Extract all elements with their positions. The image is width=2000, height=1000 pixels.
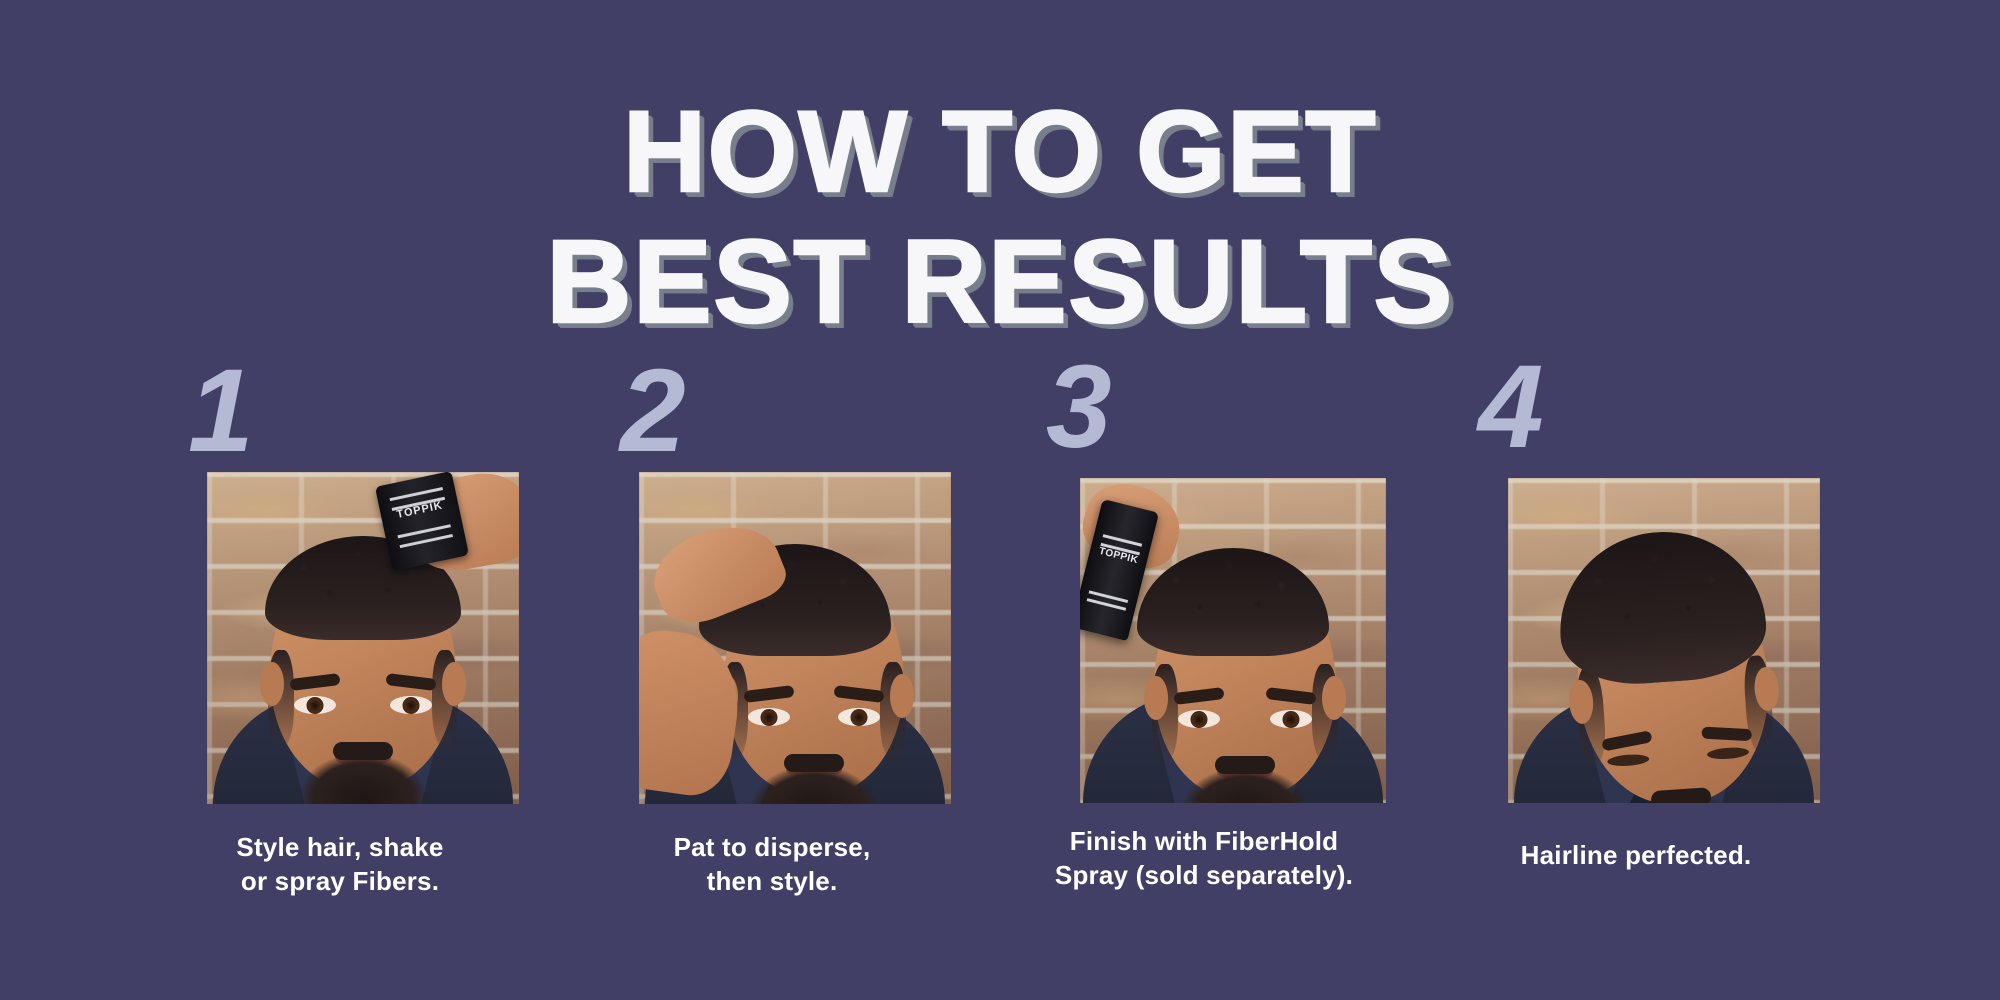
step-number-3: 3: [1046, 348, 1110, 466]
eyebrow-left: [743, 685, 794, 703]
beard: [275, 716, 451, 804]
eyebrow-left: [1174, 687, 1225, 705]
headline-line-2: BEST RESULTS: [0, 225, 2000, 341]
person-figure: [1508, 478, 1820, 803]
eye-left: [1178, 710, 1220, 728]
iris-right: [850, 709, 867, 726]
eyebrow-right: [1702, 727, 1753, 742]
eyebrow-right: [1266, 687, 1317, 705]
ear-right: [1322, 676, 1346, 720]
beard: [726, 728, 902, 804]
eyebrow-left: [289, 673, 340, 691]
beard: [1157, 730, 1333, 803]
step-photo-2: [639, 472, 951, 804]
step-photo-4: [1508, 478, 1820, 803]
hair: [1137, 548, 1329, 656]
eye-right: [390, 696, 432, 714]
caption-line-2: Spray (sold separately).: [1000, 858, 1408, 892]
headline-line-1: HOW TO GET: [0, 96, 2000, 209]
eye-left: [748, 708, 790, 726]
steps-row: 1: [0, 440, 2000, 960]
iris-left: [760, 709, 777, 726]
step-number-4: 4: [1478, 348, 1542, 466]
caption-line-1: Style hair, shake: [160, 830, 520, 864]
caption-line-1: Hairline perfected.: [1456, 838, 1816, 872]
step-caption-3: Finish with FiberHold Spray (sold separa…: [1000, 824, 1408, 893]
iris-left: [1191, 711, 1208, 728]
eye-left: [294, 696, 336, 714]
ear-left: [1144, 676, 1168, 720]
page-title: HOW TO GET BEST RESULTS: [0, 96, 2000, 340]
ear-right: [890, 674, 914, 718]
caption-line-2: or spray Fibers.: [160, 864, 520, 898]
step-caption-4: Hairline perfected.: [1456, 838, 1816, 872]
step-number-1: 1: [188, 352, 252, 470]
eye-right: [1270, 710, 1312, 728]
eyebrow-right: [385, 673, 436, 691]
eyebrow-left: [1601, 730, 1652, 751]
step-number-2: 2: [620, 352, 684, 470]
product-label: TOPPIK: [1089, 544, 1148, 569]
step-caption-1: Style hair, shake or spray Fibers.: [160, 830, 520, 899]
iris-right: [1283, 711, 1300, 728]
iris-left: [307, 697, 324, 714]
step-photo-3: TOPPIK: [1080, 478, 1386, 803]
eye-right: [838, 708, 880, 726]
eyebrow-right: [833, 685, 884, 703]
caption-line-1: Finish with FiberHold: [1000, 824, 1408, 858]
hair: [1554, 525, 1770, 689]
caption-line-1: Pat to disperse,: [592, 830, 952, 864]
head-tilted-down: [1508, 478, 1820, 803]
ear-left: [260, 662, 284, 706]
iris-right: [403, 697, 420, 714]
product-label: TOPPIK: [380, 496, 459, 524]
step-photo-1: TOPPIK: [207, 472, 519, 804]
caption-line-2: then style.: [592, 864, 952, 898]
ear-right: [442, 662, 466, 706]
step-caption-2: Pat to disperse, then style.: [592, 830, 952, 899]
